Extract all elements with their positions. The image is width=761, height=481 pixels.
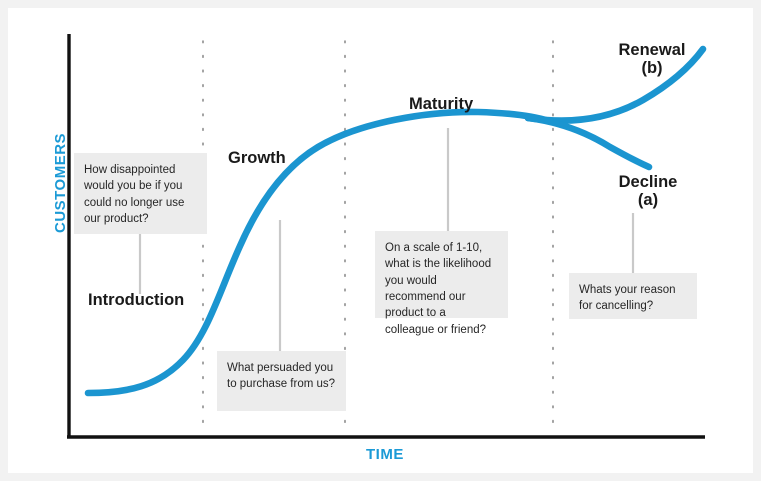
chart-card: CUSTOMERS TIME Introduction Growth Matur… xyxy=(8,8,753,473)
stage-label-decline: Decline (a) xyxy=(600,173,696,210)
callout-growth-question: What persuaded you to purchase from us? xyxy=(217,351,346,411)
callout-decline-question: Whats your reason for cancelling? xyxy=(569,273,697,319)
stage-label-decline-text: Decline xyxy=(600,173,696,191)
stage-label-growth: Growth xyxy=(228,149,286,167)
stage-label-introduction: Introduction xyxy=(88,291,184,309)
stage-label-renewal-text: Renewal xyxy=(604,41,700,59)
curve-decline-branch xyxy=(528,118,649,167)
stage-label-decline-sub: (a) xyxy=(600,191,696,209)
callout-introduction-question: How disappointed would you be if you cou… xyxy=(74,153,207,234)
stage-label-maturity: Maturity xyxy=(409,95,473,113)
x-axis-title: TIME xyxy=(366,446,404,463)
lifecycle-chart: CUSTOMERS TIME Introduction Growth Matur… xyxy=(8,8,753,473)
callout-maturity-question: On a scale of 1-10, what is the likeliho… xyxy=(375,231,508,318)
stage-label-renewal-sub: (b) xyxy=(604,59,700,77)
y-axis-title: CUSTOMERS xyxy=(52,133,69,233)
stage-label-renewal: Renewal (b) xyxy=(604,41,700,78)
